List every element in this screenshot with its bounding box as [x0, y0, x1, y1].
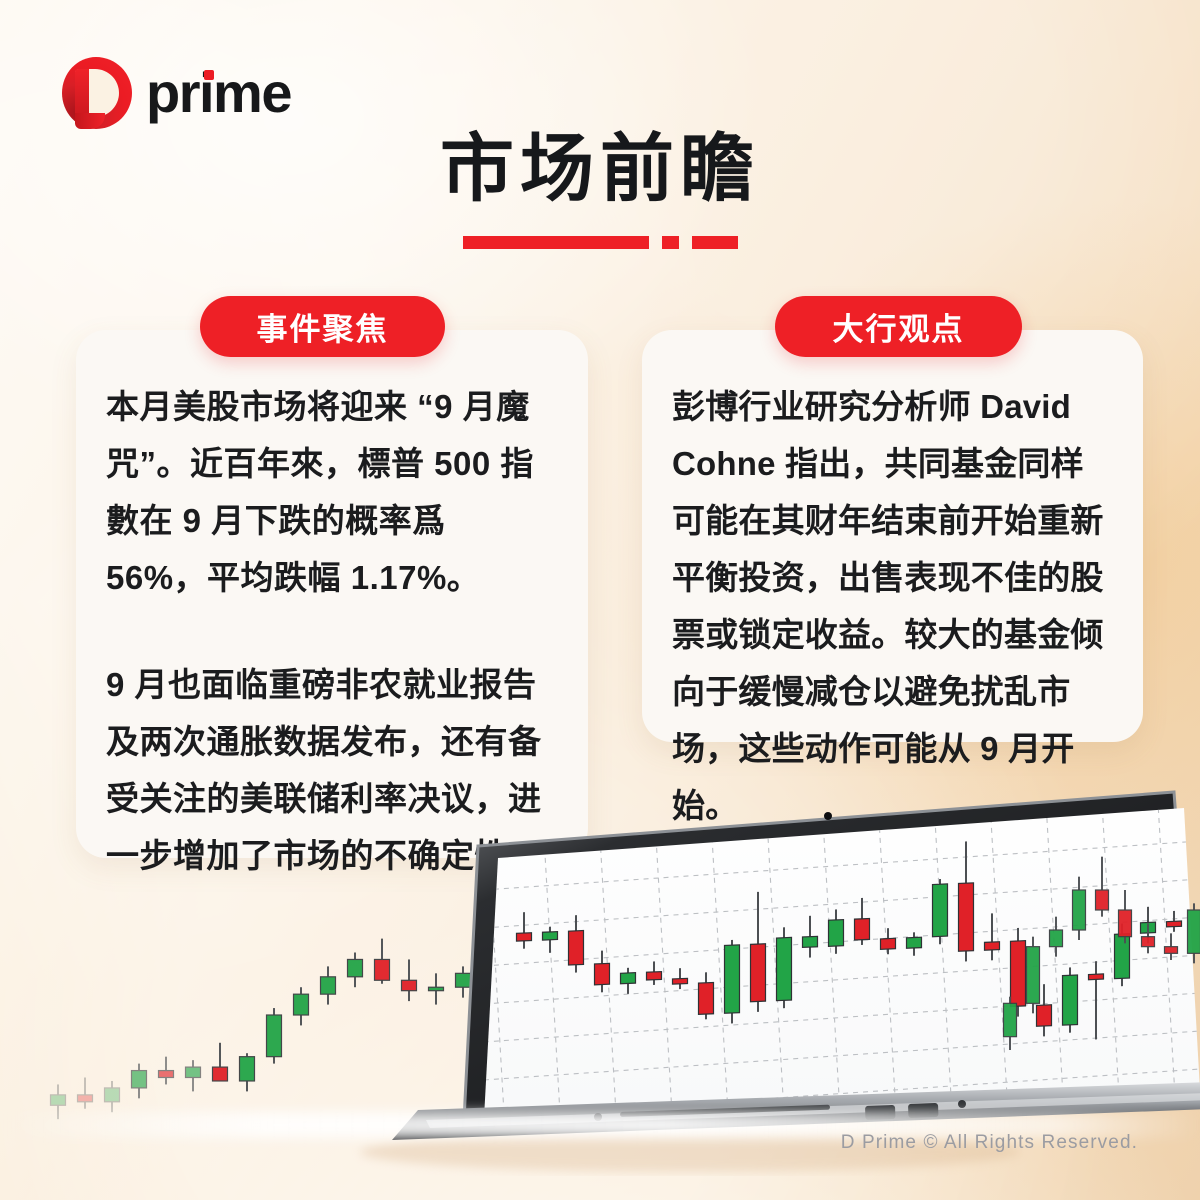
- laptop-illustration: [392, 780, 1200, 1158]
- footer-copyright: D Prime © All Rights Reserved.: [841, 1132, 1138, 1154]
- candle: [725, 940, 740, 1024]
- underline-segment-long: [463, 236, 649, 249]
- brand-wordmark: prime: [146, 65, 291, 121]
- candle: [375, 939, 390, 984]
- candle: [78, 1078, 93, 1109]
- candle: [1027, 937, 1040, 1014]
- event-focus-paragraph-1: 本月美股市场将迎来 “9 月魔咒”。近百年來，標普 500 指數在 9 月下跌的…: [106, 378, 552, 606]
- candle: [777, 927, 792, 1008]
- brand-logo[interactable]: prime: [62, 57, 291, 129]
- candle: [402, 959, 417, 1001]
- analyst-view-paragraph-1: 彭博行业研究分析师 David Cohne 指出，共同基金同样可能在其财年结束前…: [672, 378, 1115, 834]
- page-title: 市场前瞻: [0, 132, 1200, 206]
- candle: [429, 973, 444, 1004]
- candle: [132, 1064, 147, 1099]
- wordmark-dot-icon: [204, 70, 214, 80]
- card-analyst-view: 彭博行业研究分析师 David Cohne 指出，共同基金同样可能在其财年结束前…: [642, 330, 1143, 742]
- candle: [105, 1081, 120, 1112]
- candle: [348, 953, 363, 988]
- candle: [1063, 967, 1078, 1033]
- candle: [159, 1057, 174, 1085]
- candle: [456, 966, 471, 997]
- candle: [240, 1053, 255, 1091]
- underline-segment-dot: [662, 236, 679, 249]
- badge-analyst-view: 大行观点: [775, 296, 1022, 357]
- poster-canvas: prime 市场前瞻 本月美股市场将迎来 “9 月魔咒”。近百年來，標普 500…: [0, 0, 1200, 1200]
- badge-event-focus: 事件聚焦: [200, 296, 445, 357]
- candle: [267, 1008, 282, 1064]
- title-underline: [0, 236, 1200, 249]
- underline-segment-mid: [692, 236, 738, 249]
- candle: [294, 987, 309, 1025]
- candle: [186, 1060, 201, 1091]
- d-prime-logo-icon: [62, 57, 132, 129]
- brand-wordmark-text: prime: [146, 61, 291, 124]
- candle: [213, 1043, 228, 1081]
- candle: [321, 966, 336, 1004]
- card-event-focus: 本月美股市场将迎来 “9 月魔咒”。近百年來，標普 500 指數在 9 月下跌的…: [76, 330, 588, 858]
- candle: [933, 879, 948, 945]
